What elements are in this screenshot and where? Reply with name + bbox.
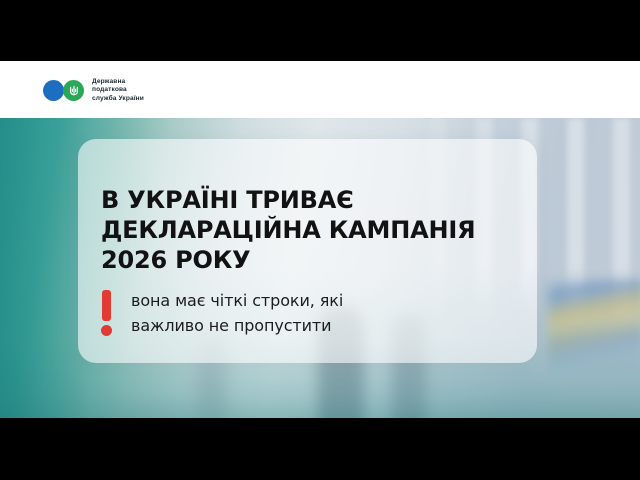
page-title: В УКРАЇНІ ТРИВАЄ ДЕКЛАРАЦІЙНА КАМПАНІЯ 2…	[101, 185, 531, 275]
ukraine-trident-icon	[69, 85, 79, 97]
exclamation-mark-icon	[101, 290, 112, 337]
subtitle-line-2: важливо не пропустити	[131, 313, 343, 338]
blue-circle-icon	[43, 80, 64, 101]
subtitle-text: вона має чіткі строки, які важливо не пр…	[131, 288, 343, 338]
logo-mark	[43, 80, 85, 101]
headline-line-2: ДЕКЛАРАЦІЙНА КАМПАНІЯ	[101, 215, 531, 245]
headline-line-3: 2026 РОКУ	[101, 245, 531, 275]
exclamation-dot	[101, 325, 112, 336]
brand-name: Державна податкова служба України	[92, 78, 144, 103]
green-circle-icon	[63, 80, 84, 101]
letterbox-bottom	[0, 418, 640, 480]
brand-name-line-3: служба України	[92, 95, 144, 102]
letterbox-top	[0, 0, 640, 61]
video-frame: В УКРАЇНІ ТРИВАЄ ДЕКЛАРАЦІЙНА КАМПАНІЯ 2…	[0, 0, 640, 480]
brand-name-line-2: податкова	[92, 86, 127, 93]
subtitle-line-1: вона має чіткі строки, які	[131, 288, 343, 313]
subtitle-block: вона має чіткі строки, які важливо не пр…	[101, 288, 343, 338]
exclamation-stem	[102, 290, 111, 321]
headline-line-1: В УКРАЇНІ ТРИВАЄ	[101, 185, 531, 215]
brand-name-line-1: Державна	[92, 78, 125, 85]
brand-logo: Державна податкова служба України	[43, 78, 144, 103]
